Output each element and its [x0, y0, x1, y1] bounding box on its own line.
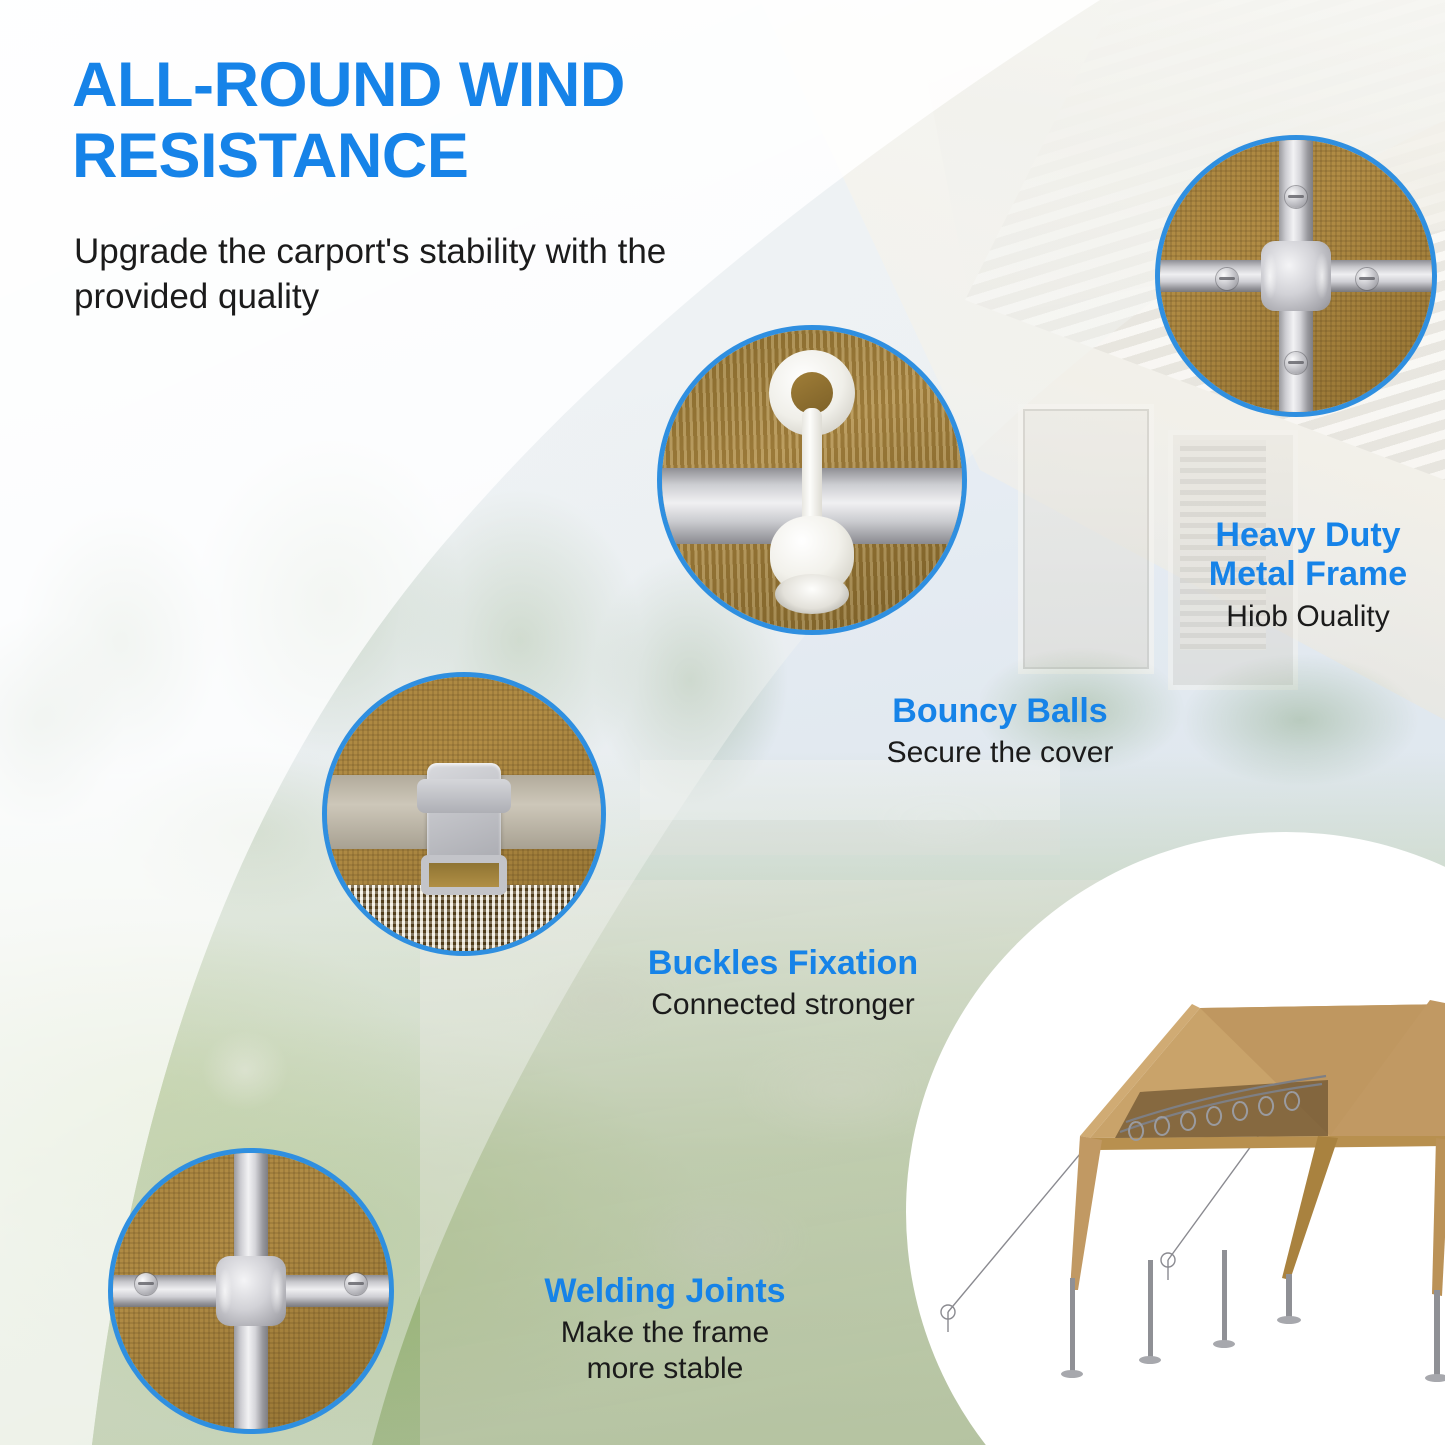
infographic-canvas: Backyard lawn with trees on the left and… [0, 0, 1445, 1445]
feature-title: Bouncy Balls [855, 692, 1145, 731]
feature-subtitle: Make the frame more stable [500, 1315, 830, 1387]
feature-photo-buckles-fixation: Grey plastic side-release buckle on tan … [322, 672, 606, 956]
feature-subtitle: Secure the cover [855, 735, 1145, 771]
feature-title: Welding Joints [500, 1272, 830, 1311]
screw-icon [1356, 268, 1378, 290]
product-carport-illustration [930, 960, 1445, 1430]
page-title: ALL-ROUND WIND RESISTANCE [72, 50, 792, 191]
screw-icon [1285, 352, 1307, 374]
feature-label-welding-joints: Welding Joints Make the frame more stabl… [500, 1272, 830, 1387]
feature-subtitle: Hiob Ouality [1158, 599, 1445, 635]
screw-icon [345, 1273, 367, 1295]
feature-label-bouncy-balls: Bouncy Balls Secure the cover [855, 692, 1145, 771]
feature-label-buckles-fixation: Buckles Fixation Connected stronger [608, 944, 958, 1023]
feature-photo-bouncy-balls: White bungee ball toggle threaded throug… [657, 325, 967, 635]
feature-subtitle: Connected stronger [608, 987, 958, 1023]
feature-title: Buckles Fixation [608, 944, 958, 983]
feature-label-heavy-duty-metal-frame: Heavy Duty Metal Frame Hiob Ouality [1158, 516, 1445, 635]
feature-photo-welding-joints: Welded cross joint of metal tubes with s… [108, 1148, 394, 1434]
weld-bead [207, 1247, 295, 1335]
weld-bead [1252, 232, 1340, 320]
feature-title: Heavy Duty Metal Frame [1158, 516, 1445, 595]
buckle-adjuster-bar [421, 855, 507, 895]
screw-icon [135, 1273, 157, 1295]
screw-icon [1285, 186, 1307, 208]
feature-photo-heavy-duty-metal-frame: Close-up of silver steel cross joint con… [1155, 135, 1437, 417]
eyelet-ring-icon [775, 574, 849, 614]
screw-icon [1216, 268, 1238, 290]
buckle-icon [427, 763, 501, 867]
page-subtitle: Upgrade the carport's stability with the… [74, 230, 714, 320]
